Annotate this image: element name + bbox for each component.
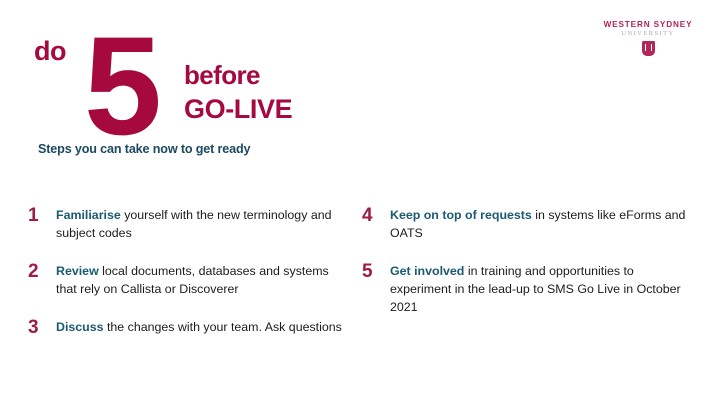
step-text: Keep on top of requests in systems like … (390, 206, 692, 242)
step-item: 2 Review local documents, databases and … (28, 262, 348, 298)
step-lead: Keep on top of requests (390, 208, 532, 222)
step-item: 4 Keep on top of requests in systems lik… (362, 206, 692, 242)
shield-badge-icon (642, 41, 655, 56)
step-number: 5 (362, 262, 390, 281)
step-lead: Review (56, 264, 99, 278)
brand-name-line-2: UNIVERSITY (596, 30, 700, 38)
hero-word-golive: GO-LIVE (184, 96, 292, 123)
step-number: 4 (362, 206, 390, 225)
brand-name-line-1: WESTERN SYDNEY (596, 20, 700, 29)
hero-lockup: do 5 before GO-LIVE (32, 28, 332, 138)
step-lead: Familiarise (56, 208, 121, 222)
step-lead: Discuss (56, 320, 104, 334)
step-item: 3 Discuss the changes with your team. As… (28, 318, 348, 337)
slide-canvas: WESTERN SYDNEY UNIVERSITY do 5 before GO… (0, 0, 720, 405)
step-text: Get involved in training and opportuniti… (390, 262, 692, 316)
step-number: 1 (28, 206, 56, 225)
step-number: 3 (28, 318, 56, 337)
step-text: Review local documents, databases and sy… (56, 262, 348, 298)
western-sydney-university-logo: WESTERN SYDNEY UNIVERSITY (596, 20, 700, 62)
step-item: 5 Get involved in training and opportuni… (362, 262, 692, 316)
step-item: 1 Familiarise yourself with the new term… (28, 206, 348, 242)
steps-column-right: 4 Keep on top of requests in systems lik… (362, 206, 692, 336)
step-text: Familiarise yourself with the new termin… (56, 206, 348, 242)
slide-subtitle: Steps you can take now to get ready (38, 142, 250, 157)
step-text: Discuss the changes with your team. Ask … (56, 318, 348, 336)
hero-word-before: before (184, 62, 260, 88)
step-lead: Get involved (390, 264, 464, 278)
steps-column-left: 1 Familiarise yourself with the new term… (28, 206, 348, 357)
hero-word-do: do (34, 38, 66, 65)
step-body: the changes with your team. Ask question… (104, 320, 342, 334)
step-number: 2 (28, 262, 56, 281)
hero-numeral-five: 5 (84, 16, 155, 156)
